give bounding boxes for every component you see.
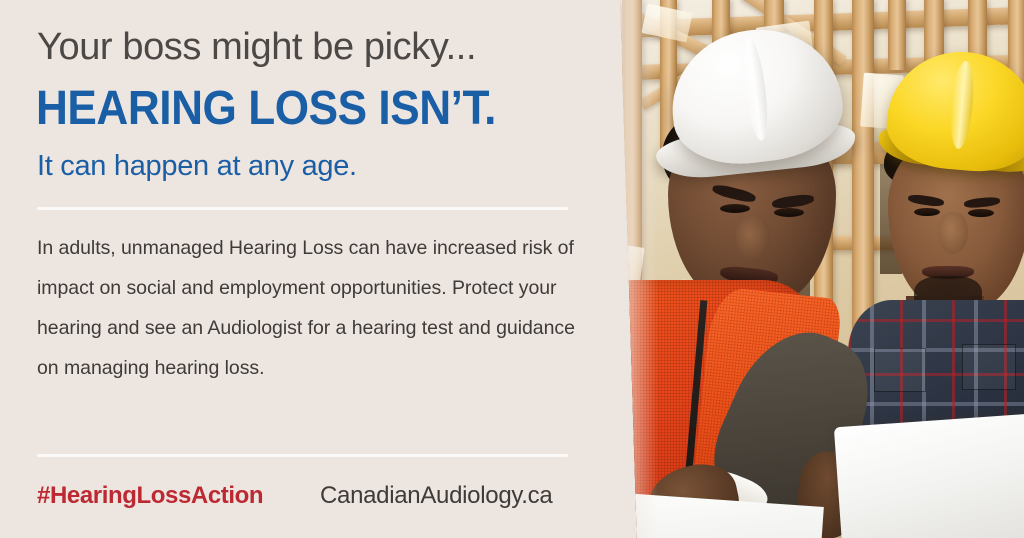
kicker-headline: Your boss might be picky... — [37, 25, 617, 69]
supervisor-eye — [720, 204, 750, 213]
website-url[interactable]: CanadianAudiology.ca — [320, 480, 552, 512]
footer: #HearingLossAction CanadianAudiology.ca — [37, 480, 597, 514]
main-headline: HEARING LOSS ISN’T. — [36, 83, 588, 135]
worker-eye — [968, 209, 994, 217]
construction-workers-photo — [616, 0, 1024, 538]
supervisor-eye — [774, 208, 804, 217]
tagline: It can happen at any age. — [37, 148, 617, 184]
shirt-pocket — [874, 348, 926, 392]
shirt-pocket — [962, 344, 1016, 390]
worker-eye — [914, 208, 940, 216]
divider-bottom — [37, 454, 568, 457]
worker-nose — [938, 212, 968, 254]
text-panel: Your boss might be picky... HEARING LOSS… — [0, 0, 640, 538]
hard-hat-ridge — [739, 37, 772, 142]
supervisor-nose — [736, 216, 770, 260]
framing-stud — [888, 0, 906, 70]
divider-top — [37, 207, 568, 210]
hard-hat-ridge — [948, 61, 977, 150]
body-paragraph: In adults, unmanaged Hearing Loss can ha… — [37, 228, 582, 388]
blueprint-sheet — [834, 413, 1024, 538]
hearing-loss-awareness-ad: Your boss might be picky... HEARING LOSS… — [0, 0, 1024, 538]
photo-scene — [616, 0, 1024, 538]
campaign-hashtag[interactable]: #HearingLossAction — [37, 480, 263, 512]
